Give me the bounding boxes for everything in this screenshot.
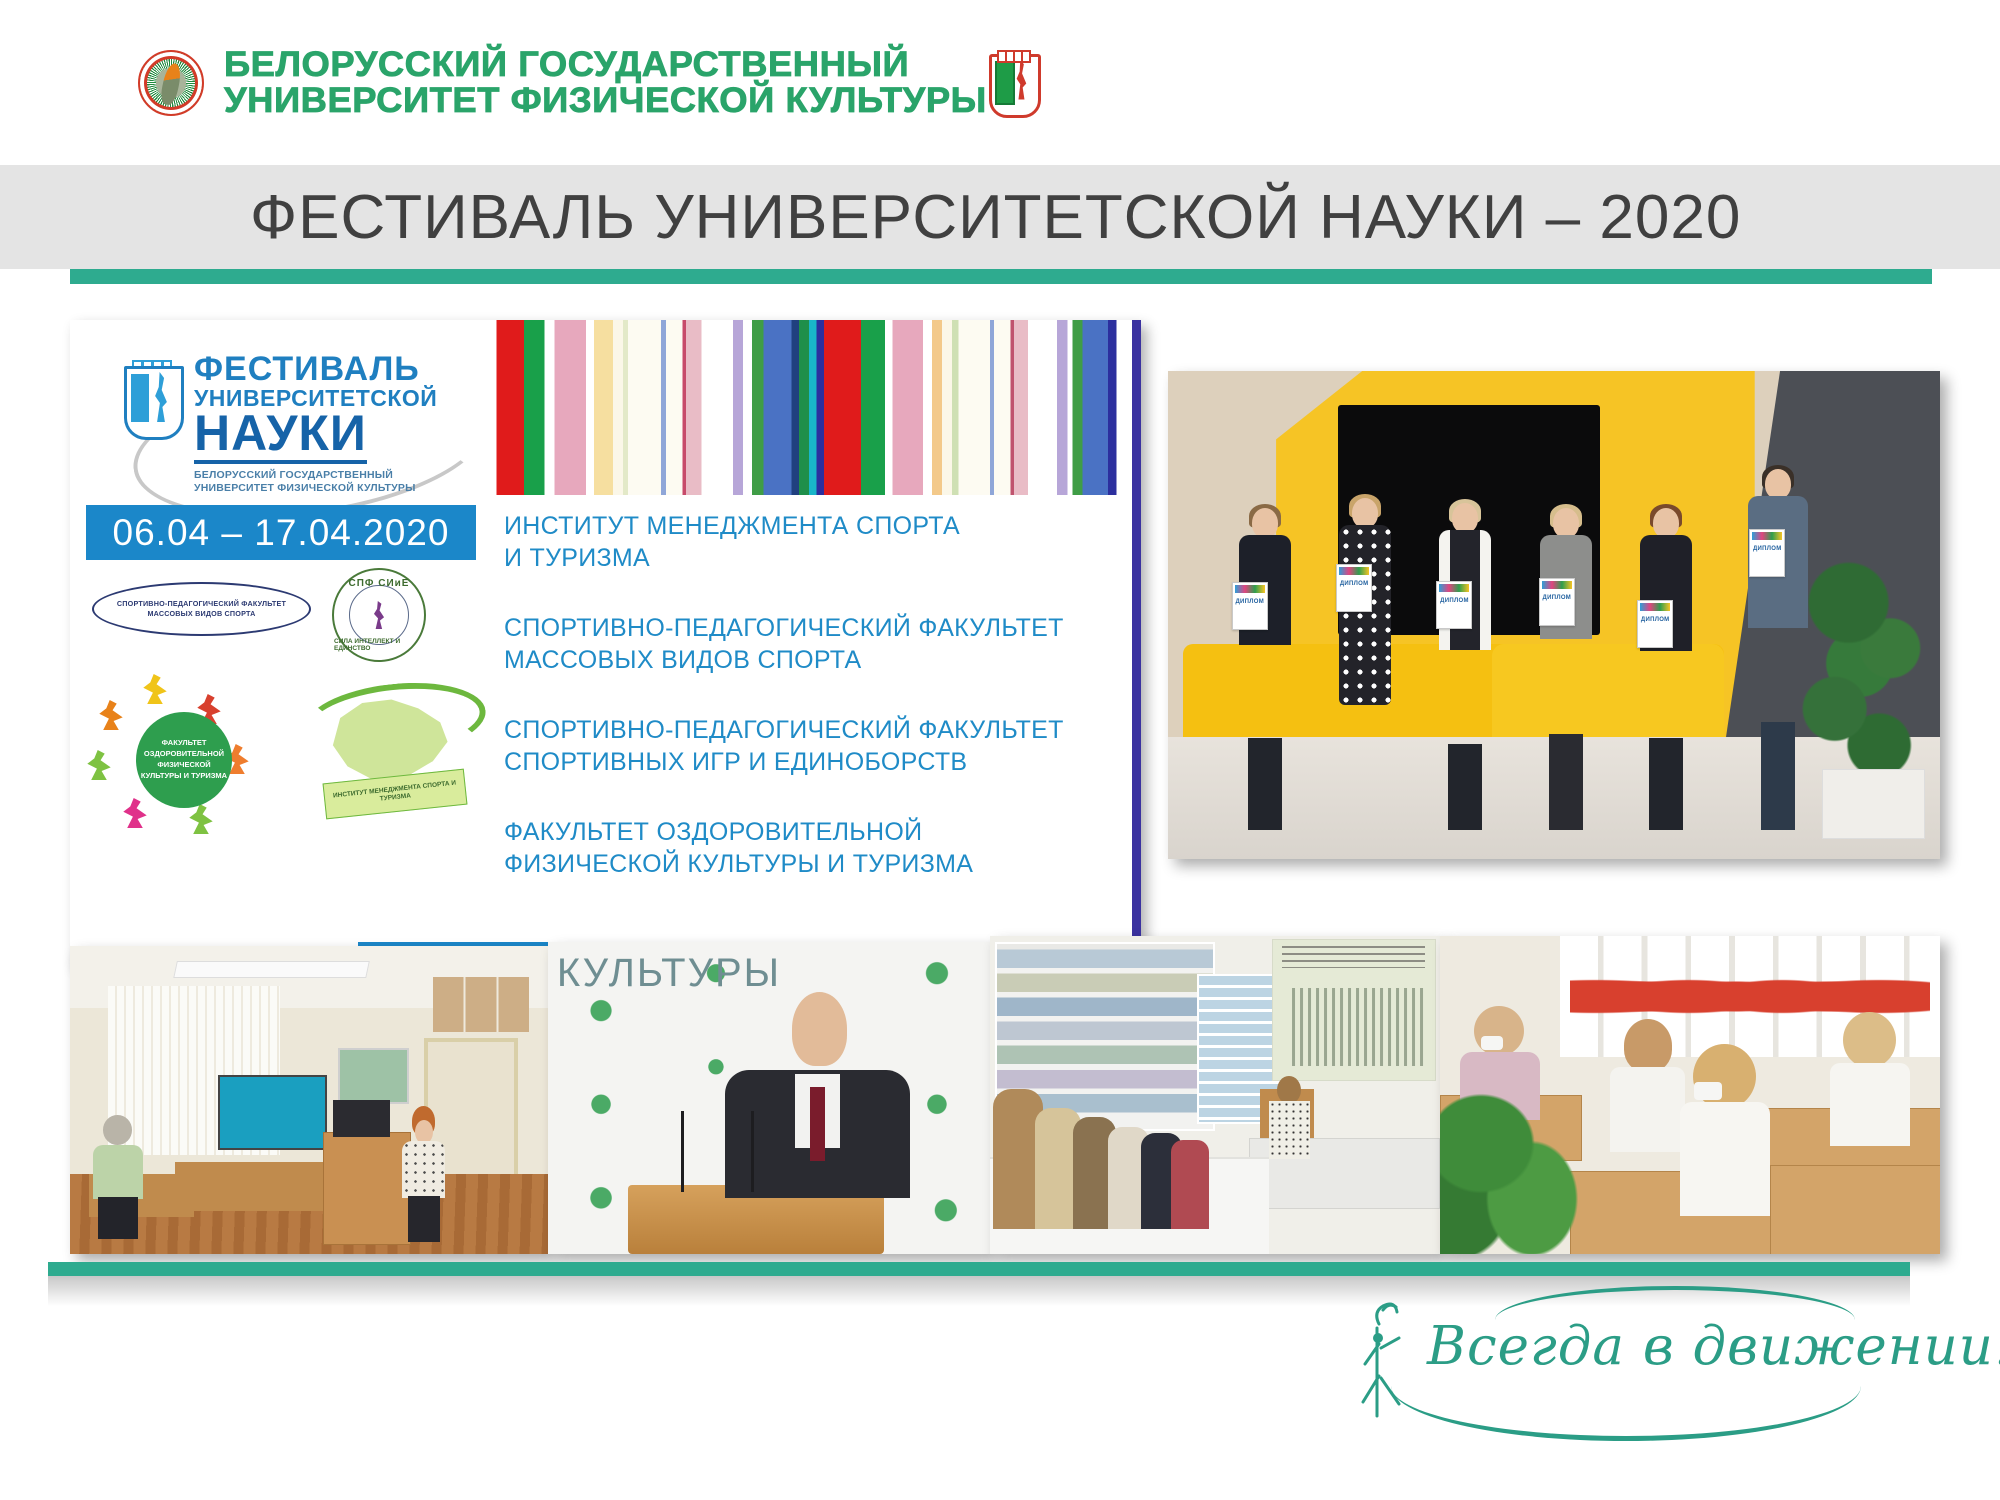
festival-logo-sub-2: УНИВЕРСИТЕТ ФИЗИЧЕСКОЙ КУЛЬТУРЫ [194,482,452,495]
online-presentation-photo [70,946,548,1254]
slide-content: ФЕСТИВАЛЬ УНИВЕРСИТЕТСКОЙ НАУКИ БЕЛОРУСС… [0,284,2000,1284]
sport-figure-icon [188,804,214,834]
attendee-head [103,1115,132,1145]
foreground-plant-icon [1440,1070,1600,1254]
emblem-spf-mvs-line-1: СПОРТИВНО-ПЕДАГОГИЧЕСКИЙ ФАКУЛЬТЕТ [117,599,286,609]
festival-date-band: 06.04 – 17.04.2020 [86,505,476,560]
anatomy-classroom-photo [1440,936,1940,1254]
award-person [1230,508,1300,830]
seated-attendee [89,1115,146,1238]
attendee-head [1843,1012,1896,1068]
diploma-icon [1436,581,1472,629]
masked-attendee [1830,1012,1910,1146]
emblem-top-edge [997,50,1031,63]
library-conference-photo [990,936,1440,1254]
emblem-imst-text: ИНСТИТУТ МЕНЕДЖМЕНТА СПОРТА И ТУРИЗМА [325,778,466,809]
presentation-screen [218,1075,327,1150]
laptop-icon [333,1100,390,1137]
festival-logo-line-1: ФЕСТИВАЛЬ [194,352,452,386]
emblem-spf-sine: СПФ СИиЕ СИЛА ИНТЕЛЛЕКТ И ЕДИНСТВО [332,568,426,662]
page-title: ФЕСТИВАЛЬ УНИВЕРСИТЕТСКОЙ НАУКИ – 2020 [250,182,1741,253]
ceiling-lamp [173,961,370,978]
header-org-line-1: БЕЛОРУССКИЙ ГОСУДАРСТВЕННЫЙ [224,47,987,83]
emblem-imst-ribbon: ИНСТИТУТ МЕНЕДЖМЕНТА СПОРТА И ТУРИЗМА [323,769,468,820]
page-header: БЕЛОРУССКИЙ ГОСУДАРСТВЕННЫЙ УНИВЕРСИТЕТ … [0,0,2000,165]
person-dress [1339,525,1391,705]
poster-right-column: ИНСТИТУТ МЕНЕДЖМЕНТА СПОРТА И ТУРИЗМА СП… [490,320,1123,920]
emblem-imst: ИНСТИТУТ МЕНЕДЖМЕНТА СПОРТА И ТУРИЗМА [302,680,477,830]
attendee-head [1624,1019,1672,1072]
university-slogan: Всегда в движении... [1345,1290,1905,1460]
sport-figure-icon [122,798,148,828]
attendee-lab-coat [1680,1102,1770,1215]
header-org-line-2: УНИВЕРСИТЕТ ФИЗИЧЕСКОЙ КУЛЬТУРЫ [224,83,987,119]
slide-bar-chart [1292,988,1428,1066]
person-legs [1649,738,1683,830]
person-head [1252,508,1278,538]
speaker-blouse [402,1141,446,1198]
slogan-swoosh-top [1495,1286,1855,1320]
person-legs [1761,722,1795,830]
faculty-item: СПОРТИВНО-ПЕДАГОГИЧЕСКИЙ ФАКУЛЬТЕТ СПОРТ… [504,714,1104,778]
attendee-sweater [93,1145,143,1199]
person-head [1653,508,1679,538]
festival-shield-icon [122,358,180,436]
emblem-book [995,61,1015,105]
person-legs [1248,738,1282,830]
sport-figure-icon [98,700,124,730]
microphone-icon [681,1111,684,1192]
attendee-lab-coat [1830,1063,1910,1146]
header-branding: БЕЛОРУССКИЙ ГОСУДАРСТВЕННЫЙ УНИВЕРСИТЕТ … [138,47,1039,118]
festival-logo-line-3: НАУКИ [194,410,367,464]
sport-figure-icon [86,750,112,780]
emblem-sine-bottom-text: СИЛА ИНТЕЛЛЕКТ И ЕДИНСТВО [334,638,424,652]
classroom-desk [175,1162,328,1211]
speaker-tie [810,1087,825,1161]
poster-grid: ФЕСТИВАЛЬ УНИВЕРСИТЕТСКОЙ НАУКИ БЕЛОРУСС… [70,320,1123,920]
person-head [1553,508,1579,538]
poster-stripe-banner [490,320,1123,495]
award-person [1430,503,1500,830]
face-mask-icon [1694,1082,1722,1100]
slide-caption-text [1282,946,1425,968]
diploma-icon [1749,529,1785,577]
audience-member [1171,1140,1209,1229]
poster-left-column: ФЕСТИВАЛЬ УНИВЕРСИТЕТСКОЙ НАУКИ БЕЛОРУСС… [70,320,490,920]
award-person [1631,508,1701,830]
person-head [1452,503,1478,533]
attendee-legs [98,1197,138,1239]
person-head [1765,469,1791,499]
student-desk [1770,1165,1940,1254]
slogan-swoosh-bottom [1391,1386,1861,1441]
projection-screen [1272,939,1436,1081]
award-person [1739,469,1817,830]
speaker-head [792,992,848,1066]
award-person [1531,508,1601,830]
emblem-sine-athlete-icon [373,601,385,629]
plant-pot [1822,769,1924,839]
faculty-item: ИНСТИТУТ МЕНЕДЖМЕНТА СПОРТА И ТУРИЗМА [504,510,1104,574]
person-skirt [1549,734,1583,830]
festival-logo-sub-1: БЕЛОРУССКИЙ ГОСУДАРСТВЕННЫЙ [194,469,452,482]
person-legs [1448,744,1482,830]
top-divider-rule [70,269,1932,284]
person-head [1352,498,1378,528]
festival-logo: ФЕСТИВАЛЬ УНИВЕРСИТЕТСКОЙ НАУКИ БЕЛОРУСС… [122,352,452,492]
slogan-text: Всегда в движении... [1427,1316,2000,1377]
backdrop-headline: КУЛЬТУРЫ [557,951,781,996]
bottom-divider-rule [48,1262,1910,1276]
presenter-top [1269,1101,1310,1159]
header-org-name: БЕЛОРУССКИЙ ГОСУДАРСТВЕННЫЙ УНИВЕРСИТЕТ … [224,47,957,118]
speaker-trousers [408,1196,440,1242]
emblem-spf-mvs-line-2: МАССОВЫХ ВИДОВ СПОРТА [147,609,255,619]
faculty-item: СПОРТИВНО-ПЕДАГОГИЧЕСКИЙ ФАКУЛЬТЕТ МАССО… [504,612,1104,676]
diploma-icon [1637,600,1673,648]
emblem-fofk: ФАКУЛЬТЕТ ОЗДОРОВИТЕЛЬНОЙ ФИЗИЧЕСКОЙ КУЛ… [84,672,284,847]
festival-dates: 06.04 – 17.04.2020 [113,512,450,554]
festival-logo-words: ФЕСТИВАЛЬ УНИВЕРСИТЕТСКОЙ НАУКИ БЕЛОРУСС… [194,352,452,495]
faculty-list: ИНСТИТУТ МЕНЕДЖМЕНТА СПОРТА И ТУРИЗМА СП… [504,510,1104,880]
diploma-icon [1336,564,1372,612]
festival-poster: ФЕСТИВАЛЬ УНИВЕРСИТЕТСКОЙ НАУКИ БЕЛОРУСС… [70,320,1141,966]
green-board [338,1048,409,1104]
emblem-sine-inner-ring [349,585,409,645]
faculty-item: ФАКУЛЬТЕТ ОЗДОРОВИТЕЛЬНОЙ ФИЗИЧЕСКОЙ КУЛ… [504,816,1104,880]
masked-attendee [1610,1019,1685,1153]
microphone-icon [751,1111,754,1192]
emblem-fofk-circle: ФАКУЛЬТЕТ ОЗДОРОВИТЕЛЬНОЙ ФИЗИЧЕСКОЙ КУЛ… [136,712,232,808]
masked-attendee [1680,1044,1770,1216]
award-ceremony-photo [1168,371,1940,859]
emblem-sine-top-text: СПФ СИиЕ [349,578,410,589]
attendee-lab-coat [1610,1067,1685,1152]
award-person [1330,498,1400,830]
rector-podium-photo: КУЛЬТУРЫ [548,942,990,1254]
diploma-icon [1232,582,1268,630]
diploma-icon [1539,578,1575,626]
anatomy-wall-charts [433,977,529,1032]
slide-title-bar: ФЕСТИВАЛЬ УНИВЕРСИТЕТСКОЙ НАУКИ – 2020 [0,165,2000,269]
classroom-speaker [395,1106,452,1242]
bsupc-emblem-icon [985,48,1039,118]
university-seal-icon [138,50,204,116]
emblem-spf-mvs: СПОРТИВНО-ПЕДАГОГИЧЕСКИЙ ФАКУЛЬТЕТ МАССО… [92,582,311,636]
library-audience [990,1070,1242,1229]
face-mask-icon [1481,1036,1503,1050]
shield-book [131,374,149,422]
sport-figure-icon [142,674,168,704]
emblem-fofk-text: ФАКУЛЬТЕТ ОЗДОРОВИТЕЛЬНОЙ ФИЗИЧЕСКОЙ КУЛ… [136,738,232,782]
library-presenter [1269,1076,1310,1159]
